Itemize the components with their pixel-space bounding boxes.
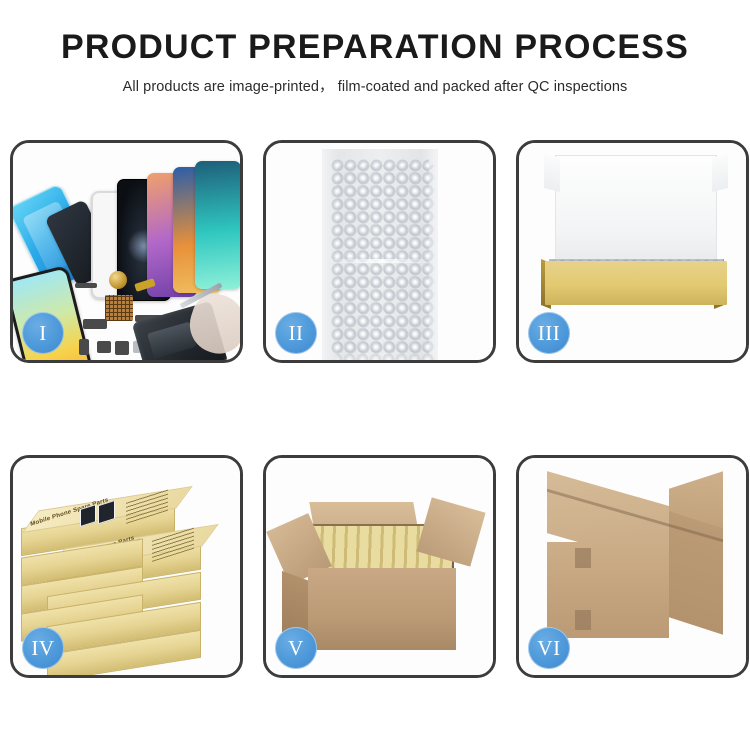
carton-front-face xyxy=(308,568,456,650)
step-card-5[interactable]: V xyxy=(263,455,496,678)
step-badge-6: VI xyxy=(528,627,570,669)
process-steps-grid: I II III Mobil xyxy=(10,140,740,678)
step-card-1[interactable]: I xyxy=(10,140,243,363)
part-bracket xyxy=(83,319,107,329)
step-card-3[interactable]: III xyxy=(516,140,749,363)
bubble-wrap-seam xyxy=(331,259,429,263)
part-camera-module xyxy=(97,341,111,353)
box-screen-art-1 xyxy=(80,504,96,527)
part-grid-connector xyxy=(105,295,133,321)
step-badge-5: V xyxy=(275,627,317,669)
sealed-carton-front-face xyxy=(547,542,669,638)
page-header: PRODUCT PREPARATION PROCESS All products… xyxy=(0,0,750,96)
part-speaker-round xyxy=(109,271,127,289)
carton-tape-mark-bottom xyxy=(575,610,591,630)
step-card-4[interactable]: Mobile Phone Spare Parts Mobile Phone Sp… xyxy=(10,455,243,678)
step-badge-4: IV xyxy=(22,627,64,669)
page-title: PRODUCT PREPARATION PROCESS xyxy=(0,30,750,66)
part-bar-1 xyxy=(75,283,97,288)
step-card-6[interactable]: VI xyxy=(516,455,749,678)
step-badge-3: III xyxy=(528,312,570,354)
bubble-wrap-sheet xyxy=(322,149,438,360)
inner-box-tray xyxy=(545,261,727,305)
phone-teal-display xyxy=(195,161,240,289)
step-badge-1: I xyxy=(22,312,64,354)
part-battery-small xyxy=(79,339,89,355)
carton-tape-mark-top xyxy=(575,548,591,568)
step-badge-2: II xyxy=(275,312,317,354)
box-screen-art-2 xyxy=(98,500,115,524)
page-subtitle: All products are image-printed， film-coa… xyxy=(0,75,750,96)
sealed-carton-right-face xyxy=(669,511,723,635)
part-vibrator xyxy=(115,341,129,355)
step-card-2[interactable]: II xyxy=(263,140,496,363)
inner-box-lid xyxy=(555,155,717,265)
